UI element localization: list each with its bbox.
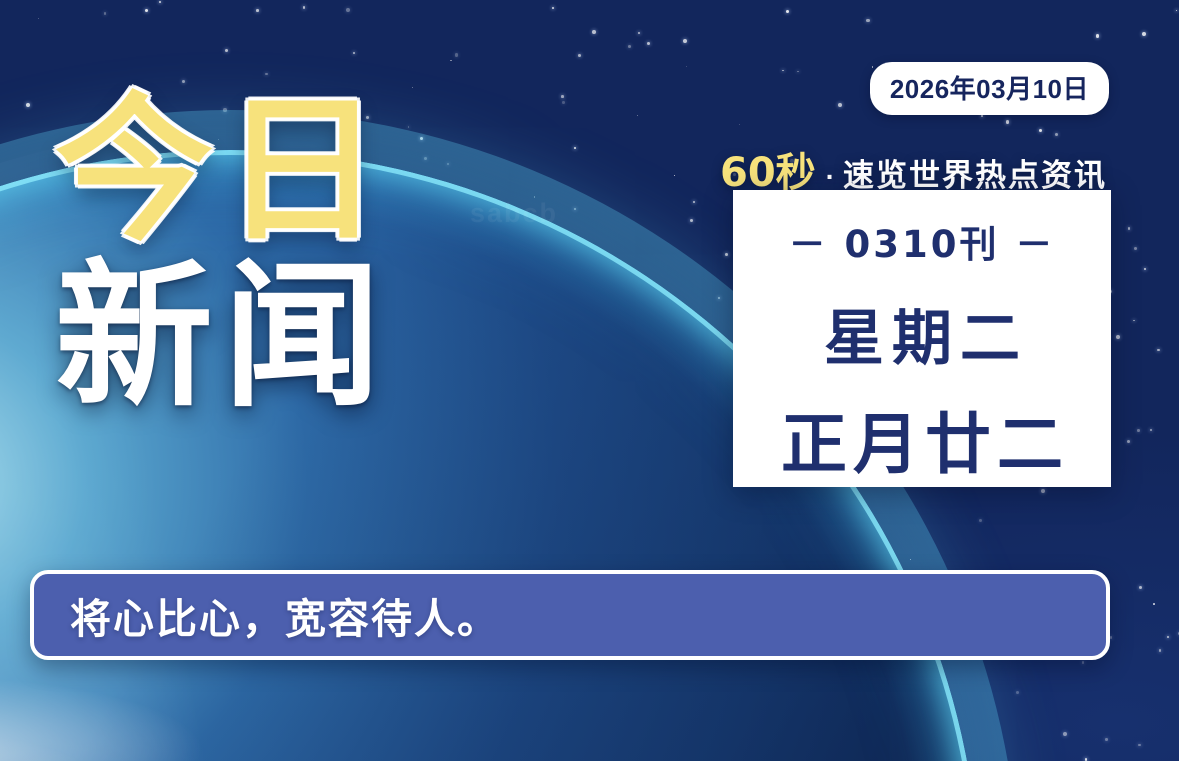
date-badge: 2026年03月10日 xyxy=(870,62,1109,115)
tagline-text: 速览世界热点资讯 xyxy=(843,150,1107,195)
brand-title-line-2: 新闻 xyxy=(55,262,391,412)
brand-title: 今日 新闻 xyxy=(55,96,391,412)
tagline-separator-dot: · xyxy=(826,161,835,193)
daily-quote-bar: 将心比心，宽容待人。 xyxy=(30,570,1110,660)
brand-title-line-1: 今日 xyxy=(55,96,391,246)
weekday-label: 星期二 xyxy=(816,290,1028,377)
lunar-date-label: 正月廿二 xyxy=(775,391,1069,487)
news-poster: sabcb 今日 新闻 2026年03月10日 60秒 · 速览世界热点资讯 －… xyxy=(0,0,1179,761)
daily-quote-text: 将心比心，宽容待人。 xyxy=(70,585,500,645)
date-info-card: － 0310刊 － 星期二 正月廿二 xyxy=(733,190,1111,487)
issue-number: － 0310刊 － xyxy=(789,214,1056,268)
